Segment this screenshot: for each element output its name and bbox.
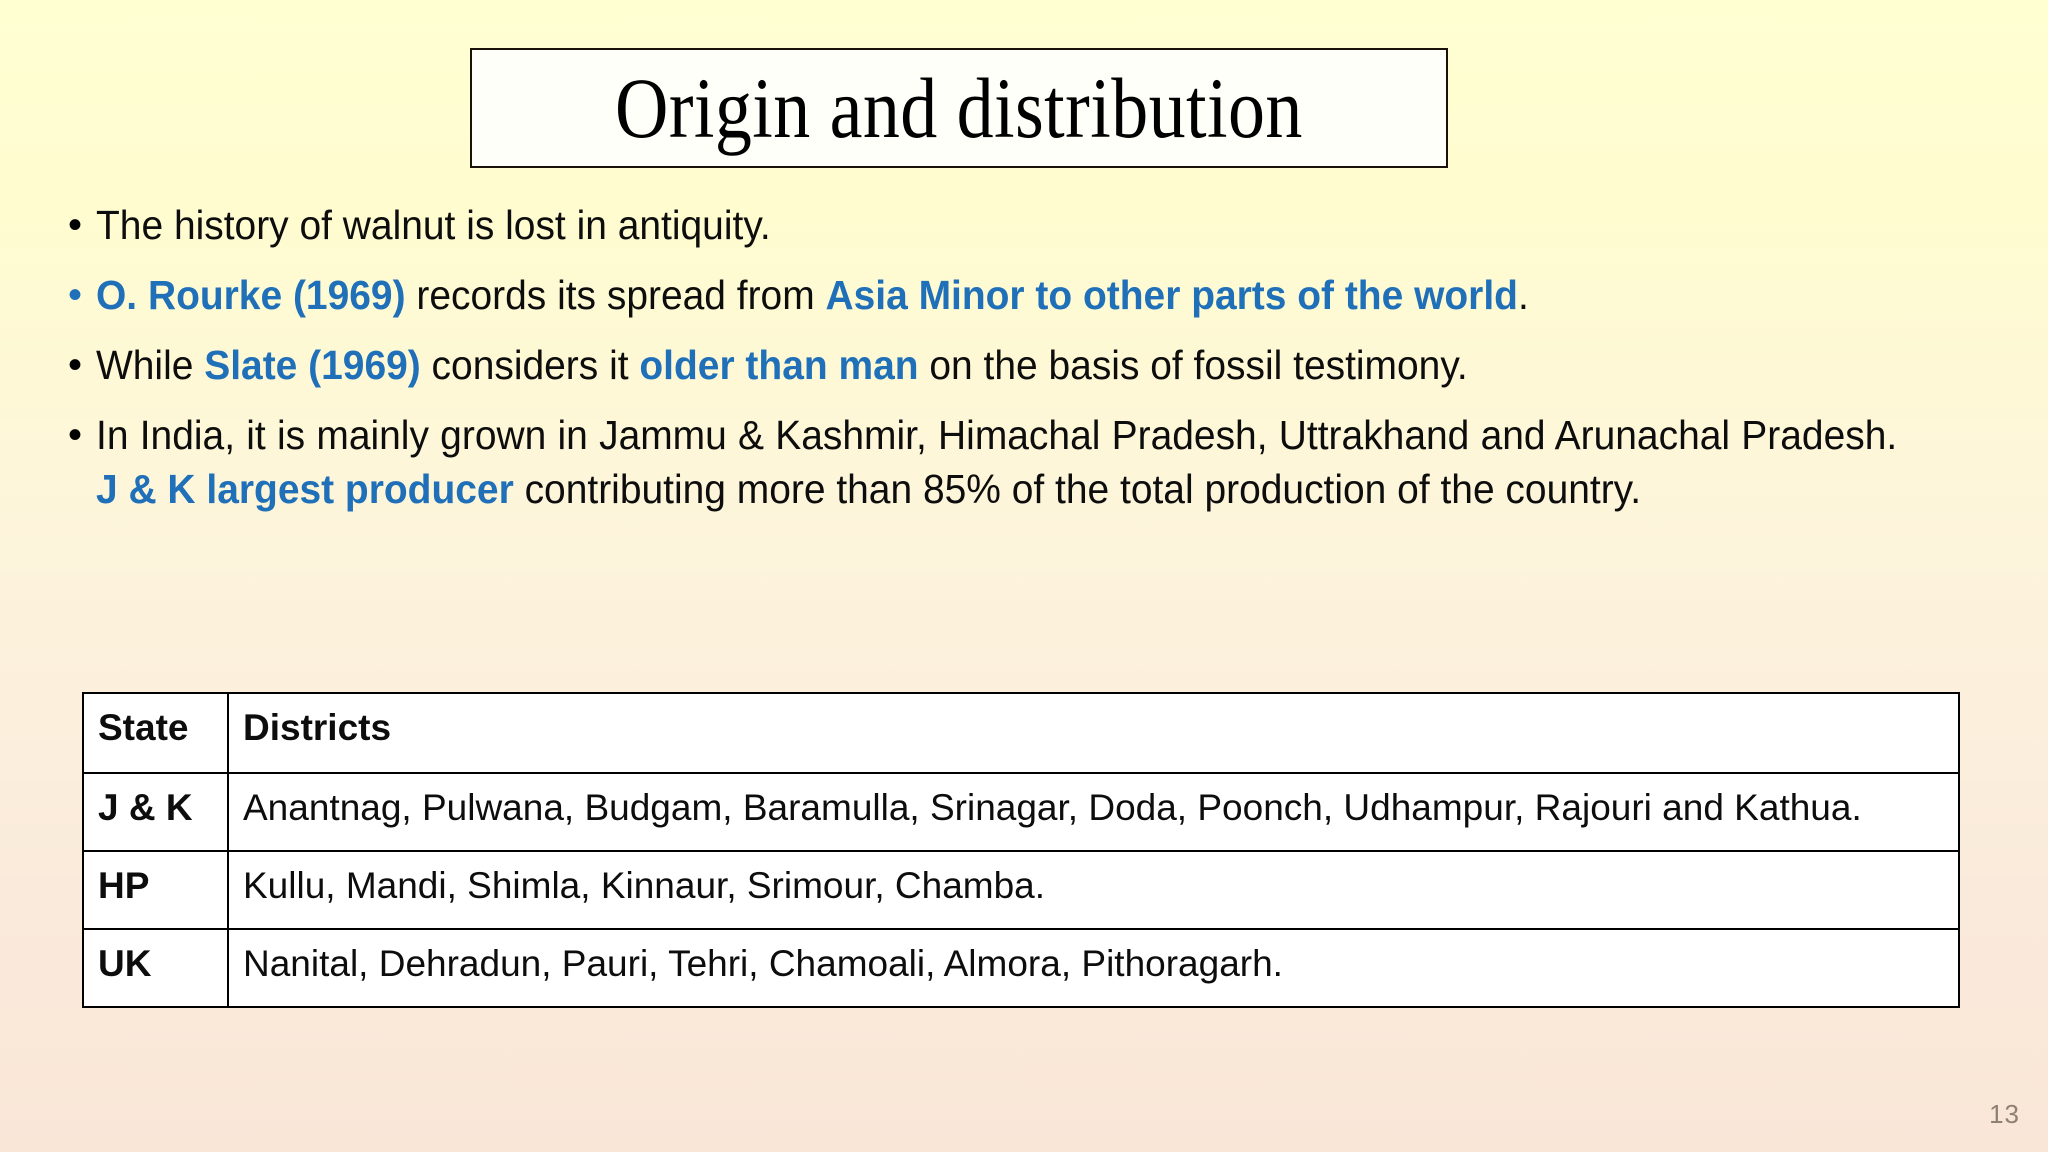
- bullet-text: The history of walnut is lost in antiqui…: [96, 198, 1897, 252]
- table-header-state: State: [83, 693, 228, 773]
- highlighted-phrase: older than man: [639, 342, 918, 388]
- bullet-text: O. Rourke (1969) records its spread from…: [96, 268, 1897, 322]
- bullet-text: While Slate (1969) considers it older th…: [96, 338, 1897, 392]
- slide-title-box: Origin and distribution: [470, 48, 1448, 168]
- bullet-item: • While Slate (1969) considers it older …: [62, 338, 1992, 392]
- table-row: UKNanital, Dehradun, Pauri, Tehri, Chamo…: [83, 929, 1959, 1007]
- text-run: considers it: [421, 342, 640, 388]
- table-body: J & KAnantnag, Pulwana, Budgam, Baramull…: [83, 773, 1959, 1007]
- slide-canvas: Origin and distribution •The history of …: [0, 0, 2048, 1152]
- page-title: Origin and distribution: [615, 65, 1303, 151]
- bullet-text: In India, it is mainly grown in Jammu & …: [96, 408, 1897, 516]
- bullet-marker-icon: •: [62, 408, 96, 462]
- table-row: J & KAnantnag, Pulwana, Budgam, Baramull…: [83, 773, 1959, 851]
- table-header-districts: Districts: [228, 693, 1959, 773]
- bullet-list: •The history of walnut is lost in antiqu…: [62, 198, 1992, 532]
- table-cell-districts: Nanital, Dehradun, Pauri, Tehri, Chamoal…: [228, 929, 1959, 1007]
- table-cell-districts: Kullu, Mandi, Shimla, Kinnaur, Srimour, …: [228, 851, 1959, 929]
- page-number: 13: [1989, 1099, 2020, 1130]
- highlighted-phrase: O. Rourke (1969): [96, 272, 406, 318]
- state-districts-table: State Districts J & KAnantnag, Pulwana, …: [82, 692, 1960, 1008]
- text-run: While: [96, 342, 204, 388]
- highlighted-phrase: J & K largest producer: [96, 466, 514, 512]
- highlighted-phrase: Slate (1969): [204, 342, 421, 388]
- text-run: .: [1518, 272, 1529, 318]
- bullet-marker-icon: •: [62, 268, 96, 322]
- highlighted-phrase: Asia Minor to other parts of the world: [825, 272, 1517, 318]
- table-row: HPKullu, Mandi, Shimla, Kinnaur, Srimour…: [83, 851, 1959, 929]
- text-run: The history of walnut is lost in antiqui…: [96, 202, 771, 248]
- bullet-marker-icon: •: [62, 198, 96, 252]
- text-run: contributing more than 85% of the total …: [514, 466, 1641, 512]
- text-run: In India, it is mainly grown in Jammu & …: [96, 412, 1897, 458]
- table-header-row: State Districts: [83, 693, 1959, 773]
- bullet-marker-icon: •: [62, 338, 96, 392]
- table-cell-districts: Anantnag, Pulwana, Budgam, Baramulla, Sr…: [228, 773, 1959, 851]
- table-cell-state: UK: [83, 929, 228, 1007]
- text-run: on the basis of fossil testimony.: [919, 342, 1468, 388]
- table-cell-state: J & K: [83, 773, 228, 851]
- bullet-item: •The history of walnut is lost in antiqu…: [62, 198, 1992, 252]
- bullet-item: •In India, it is mainly grown in Jammu &…: [62, 408, 1992, 516]
- text-run: records its spread from: [406, 272, 826, 318]
- bullet-item: •O. Rourke (1969) records its spread fro…: [62, 268, 1992, 322]
- table-cell-state: HP: [83, 851, 228, 929]
